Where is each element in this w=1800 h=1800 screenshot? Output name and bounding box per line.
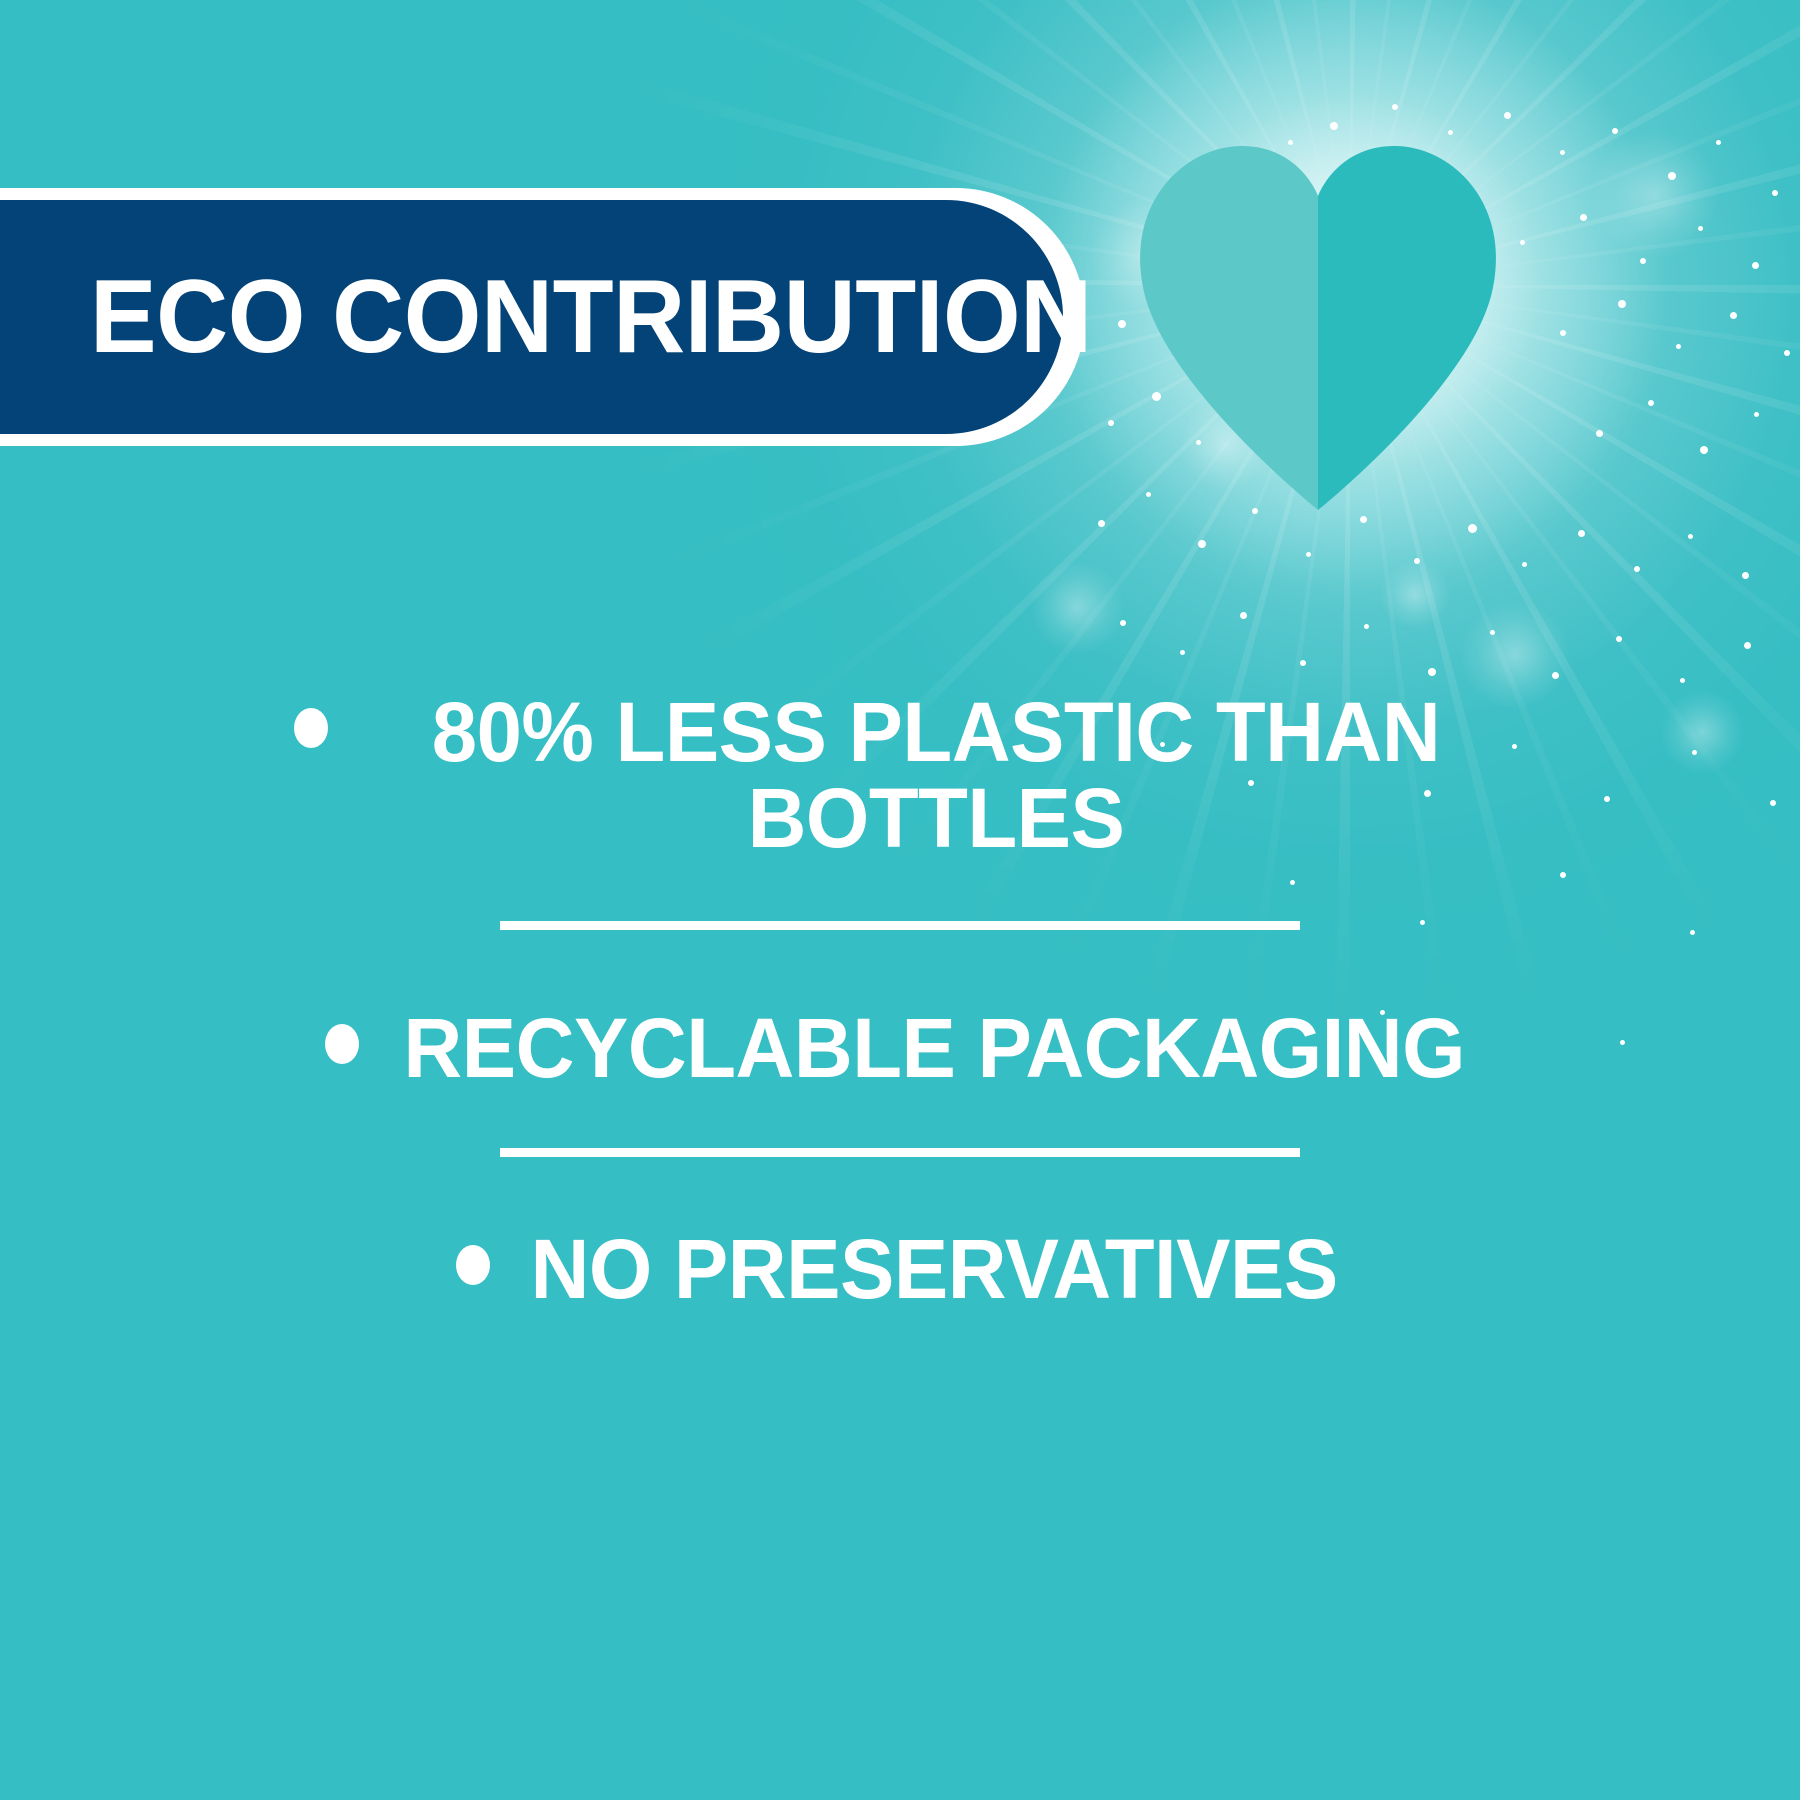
spacer (0, 930, 1800, 1006)
spacer (0, 1092, 1800, 1148)
feature-label: NO PRESERVATIVES (530, 1227, 1337, 1313)
spacer (0, 1157, 1800, 1227)
bullet-dot-icon (294, 708, 328, 748)
bokeh-circle (1590, 130, 1720, 260)
feature-divider (500, 921, 1300, 930)
list-item: NO PRESERVATIVES (0, 1227, 1800, 1313)
bullet-dot-icon (456, 1245, 490, 1285)
list-item: 80% LESS PLASTIC THAN BOTTLES (0, 690, 1800, 861)
feature-label: RECYCLABLE PACKAGING (403, 1006, 1465, 1092)
heart-logo (1130, 140, 1510, 515)
list-item: RECYCLABLE PACKAGING (0, 1006, 1800, 1092)
spacer (0, 861, 1800, 921)
feature-list: 80% LESS PLASTIC THAN BOTTLES RECYCLABLE… (0, 690, 1800, 1313)
heart-right-lobe (1318, 146, 1496, 510)
feature-divider (500, 1148, 1300, 1157)
feature-label: 80% LESS PLASTIC THAN BOTTLES (373, 690, 1498, 861)
page-title: ECO CONTRIBUTION (90, 265, 1092, 369)
bullet-dot-icon (325, 1024, 359, 1064)
bokeh-circle (1380, 560, 1450, 630)
eco-contribution-banner: ECO CONTRIBUTION (0, 200, 1063, 434)
heart-left-lobe (1140, 146, 1318, 510)
bokeh-circle (1030, 560, 1125, 655)
eco-contribution-poster: ECO CONTRIBUTION 80% LESS PLASTIC THAN B… (0, 0, 1800, 1800)
